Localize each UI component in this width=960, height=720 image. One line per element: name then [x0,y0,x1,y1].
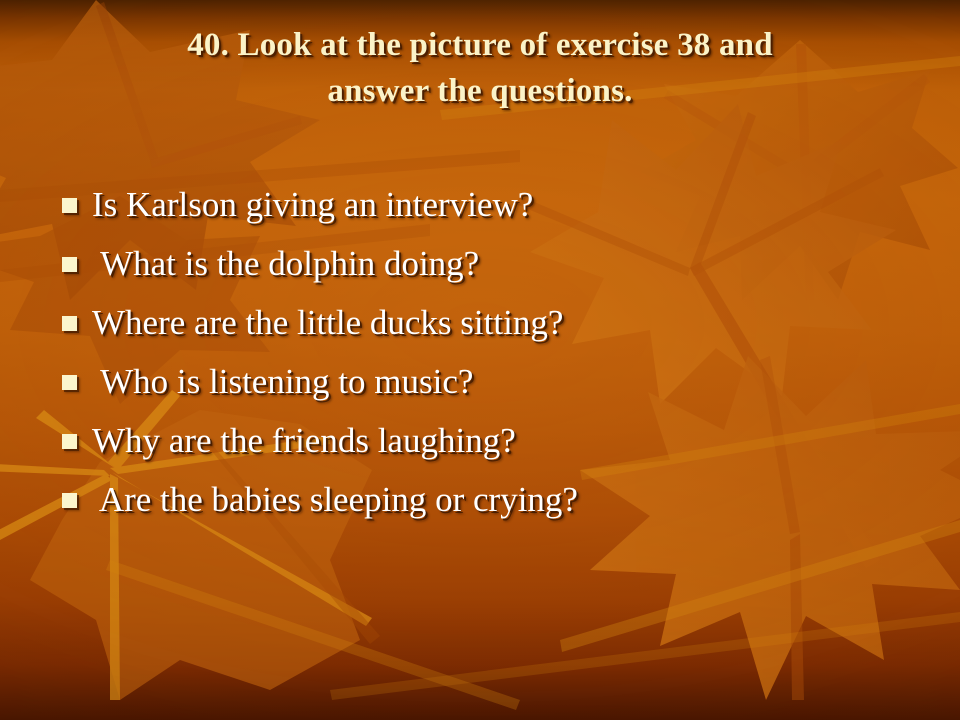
list-item: Why are the friends laughing? [55,418,930,477]
square-bullet-icon [62,375,77,390]
question-text: Why are the friends laughing? [92,418,930,464]
square-bullet-icon [62,493,77,508]
square-bullet-icon [62,316,77,331]
square-bullet-icon [62,434,77,449]
slide-title: 40. Look at the picture of exercise 38 a… [60,22,900,114]
question-text: Are the babies sleeping or crying? [92,477,930,523]
question-text: Who is listening to music? [92,359,930,405]
question-text: What is the dolphin doing? [92,241,930,287]
slide-content: 40. Look at the picture of exercise 38 a… [0,0,960,720]
question-text: Is Karlson giving an interview? [92,182,930,228]
question-text: Where are the little ducks sitting? [92,300,930,346]
list-item: Who is listening to music? [55,359,930,418]
question-list: Is Karlson giving an interview? What is … [55,182,930,536]
list-item: Where are the little ducks sitting? [55,300,930,359]
square-bullet-icon [62,257,77,272]
square-bullet-icon [62,198,77,213]
list-item: What is the dolphin doing? [55,241,930,300]
slide-canvas: 40. Look at the picture of exercise 38 a… [0,0,960,720]
list-item: Is Karlson giving an interview? [55,182,930,241]
list-item: Are the babies sleeping or crying? [55,477,930,536]
